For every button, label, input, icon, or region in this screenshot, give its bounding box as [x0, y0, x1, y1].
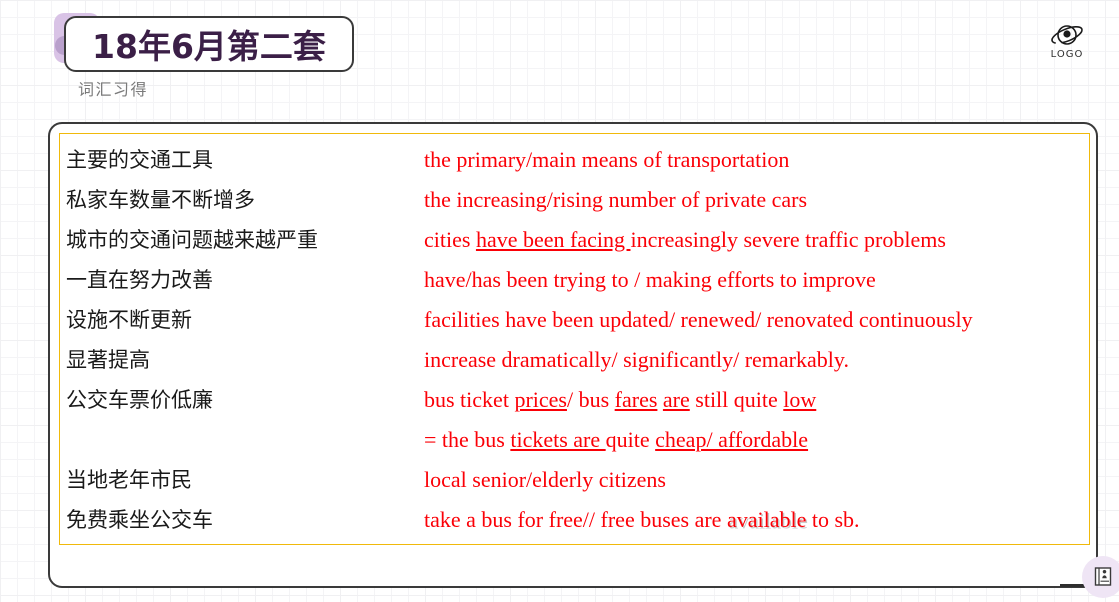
underlined-phrase: have been facing — [476, 227, 631, 252]
table-row: 当地老年市民local senior/elderly citizens — [48, 460, 1098, 500]
chinese-phrase: 城市的交通问题越来越严重 — [66, 220, 318, 260]
table-row: 一直在努力改善have/has been trying to / making … — [48, 260, 1098, 300]
text-fragment: the increasing/rising number of private … — [424, 187, 807, 212]
text-fragment: bus ticket — [424, 387, 514, 412]
text-fragment: still quite — [690, 387, 784, 412]
text-fragment: = the bus — [424, 427, 510, 452]
vocabulary-table: 主要的交通工具the primary/main means of transpo… — [48, 122, 1098, 588]
table-row: 公交车票价低廉bus ticket prices/ bus fares are … — [48, 380, 1098, 420]
text-fragment: have/has been trying to / making efforts… — [424, 267, 876, 292]
chinese-phrase: 一直在努力改善 — [66, 260, 213, 300]
chinese-phrase: 当地老年市民 — [66, 460, 192, 500]
text-fragment: take a bus for free// free buses are — [424, 507, 727, 532]
text-fragment: the primary/main means of transportation — [424, 147, 789, 172]
table-row: 设施不断更新facilities have been updated/ rene… — [48, 300, 1098, 340]
english-translation: have/has been trying to / making efforts… — [424, 260, 876, 300]
notebook-icon[interactable] — [1082, 556, 1119, 598]
table-row: 主要的交通工具the primary/main means of transpo… — [48, 140, 1098, 180]
text-fragment: / bus — [567, 387, 615, 412]
logo-label: LOGO — [1035, 49, 1099, 60]
table-row: 免费乘坐公交车take a bus for free// free buses … — [48, 500, 1098, 540]
chinese-phrase: 主要的交通工具 — [66, 140, 213, 180]
english-translation: the increasing/rising number of private … — [424, 180, 807, 220]
text-fragment: increase dramatically/ significantly/ re… — [424, 347, 849, 372]
table-row: 私家车数量不断增多the increasing/rising number of… — [48, 180, 1098, 220]
underlined-phrase: cheap/ affordable — [655, 427, 808, 452]
chinese-phrase: 私家车数量不断增多 — [66, 180, 255, 220]
underlined-phrase: are — [663, 387, 690, 412]
page-subtitle: 词汇习得 — [78, 76, 148, 100]
underlined-phrase: prices — [514, 387, 567, 412]
english-translation: facilities have been updated/ renewed/ r… — [424, 300, 973, 340]
text-fragment: local senior/elderly citizens — [424, 467, 666, 492]
english-translation: local senior/elderly citizens — [424, 460, 666, 500]
text-fragment: facilities have been updated/ renewed/ r… — [424, 307, 973, 332]
text-fragment: quite — [606, 427, 656, 452]
underlined-phrase: tickets are — [510, 427, 605, 452]
english-translation: increase dramatically/ significantly/ re… — [424, 340, 849, 380]
text-fragment: increasingly severe traffic problems — [630, 227, 945, 252]
table-row: 显著提高increase dramatically/ significantly… — [48, 340, 1098, 380]
english-translation: take a bus for free// free buses are ava… — [424, 500, 860, 540]
chinese-phrase: 显著提高 — [66, 340, 150, 380]
underlined-phrase: low — [783, 387, 816, 412]
text-fragment: cities — [424, 227, 476, 252]
title-box: 18年6月第二套 — [64, 16, 354, 72]
page-header: 18年6月第二套 词汇习得 LOGO — [0, 0, 1119, 118]
table-row: = the bus tickets are quite cheap/ affor… — [48, 420, 1098, 460]
chinese-phrase: 设施不断更新 — [66, 300, 192, 340]
page-title: 18年6月第二套 — [92, 20, 326, 68]
table-row: 城市的交通问题越来越严重cities have been facing incr… — [48, 220, 1098, 260]
english-translation: = the bus tickets are quite cheap/ affor… — [424, 420, 808, 460]
chinese-phrase: 免费乘坐公交车 — [66, 500, 213, 540]
underlined-phrase: fares — [615, 387, 658, 412]
english-translation: cities have been facing increasingly sev… — [424, 220, 946, 260]
english-translation: bus ticket prices/ bus fares are still q… — [424, 380, 816, 420]
english-translation: the primary/main means of transportation — [424, 140, 789, 180]
text-fragment: to sb. — [806, 507, 859, 532]
planet-orbit-icon — [1035, 22, 1099, 48]
chinese-phrase: 公交车票价低廉 — [66, 380, 213, 420]
logo-block: LOGO — [1035, 22, 1099, 60]
text-fragment: available — [727, 507, 806, 532]
